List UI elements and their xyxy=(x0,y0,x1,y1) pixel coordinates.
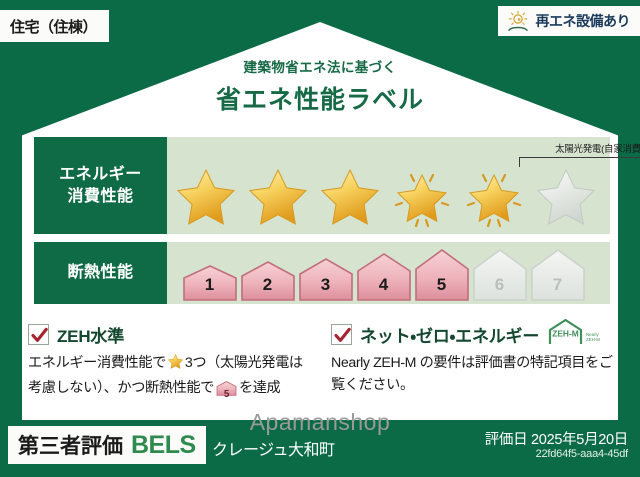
evaluation-date-label: 評価日 xyxy=(485,432,528,448)
renewable-equipment-tag: 再エネ設備あり xyxy=(498,6,640,36)
insulation-grade-5-number: 5 xyxy=(414,275,470,295)
zeh-standard-description: エネルギー消費性能で3つ（太陽光発電は考慮しない）、かつ断熱性能で5を達成 xyxy=(28,353,313,403)
renewable-equipment-label: 再エネ設備あり xyxy=(536,11,631,31)
svg-text:ZEH-M: ZEH-M xyxy=(586,337,600,342)
inline-star-icon xyxy=(167,358,184,374)
energy-performance-row: エネルギー 消費性能 太陽光発電(自家消費)分 xyxy=(34,137,610,234)
energy-star-rating xyxy=(167,164,610,230)
insulation-grade-4-number: 4 xyxy=(356,275,412,295)
insulation-grade-7-number: 7 xyxy=(530,275,586,295)
insulation-grade-7: 7 xyxy=(530,246,586,302)
label-footer: 第三者評価 BELS クレージュ大和町 評価日 2025年5月20日 22fd6… xyxy=(0,420,640,477)
bels-en-label: BELS xyxy=(131,431,196,460)
insulation-grade-1-number: 1 xyxy=(182,275,238,295)
net-zero-description: Nearly ZEH-M の要件は評価書の特記項目をご覧ください。 xyxy=(331,353,616,396)
zeh-standard-checkbox[interactable] xyxy=(28,324,49,345)
insulation-performance-row: 断熱性能 xyxy=(34,242,610,304)
insulation-performance-label-box: 断熱性能 xyxy=(34,242,167,304)
energy-label-line2: 消費性能 xyxy=(67,186,133,207)
energy-performance-label: 住宅（住棟） 再エネ設備あり 建築物省エネ法に基づく xyxy=(0,0,640,477)
insulation-grade-6-number: 6 xyxy=(472,275,528,295)
star-1-filled xyxy=(173,164,239,230)
star-6-empty xyxy=(533,164,599,230)
star-4-filled-solar xyxy=(389,164,455,230)
insulation-grade-list: 1 2 3 4 xyxy=(167,246,610,302)
zeh-standard-section: ZEH水準 エネルギー消費性能で3つ（太陽光発電は考慮しない）、かつ断熱性能で5… xyxy=(28,322,313,403)
insulation-grade-4: 4 xyxy=(356,250,412,302)
insulation-grade-6: 6 xyxy=(472,246,528,302)
zeh-standard-title: ZEH水準 xyxy=(57,322,124,347)
zeh-standard-text-part3: を達成 xyxy=(239,380,280,396)
star-3-filled xyxy=(317,164,383,230)
insulation-grade-3-number: 3 xyxy=(298,275,354,295)
solar-annotation-text: 太陽光発電(自家消費)分 xyxy=(519,141,640,155)
insulation-grade-5-achieved: 5 xyxy=(414,246,470,302)
sun-solar-icon xyxy=(506,10,530,32)
net-zero-header: ネット・ゼロ・エネルギー ZEH-M Nearly ZEH-M xyxy=(331,322,616,346)
insulation-grade-panel: 1 2 3 4 xyxy=(167,242,610,304)
energy-performance-label-box: エネルギー 消費性能 xyxy=(34,137,167,234)
inline-grade-number: 5 xyxy=(216,387,237,402)
net-zero-title: ネット・ゼロ・エネルギー xyxy=(360,322,539,347)
zeh-standard-header: ZEH水準 xyxy=(28,322,313,346)
star-5-filled-solar xyxy=(461,164,527,230)
star-2-filled xyxy=(245,164,311,230)
evaluation-date: 評価日 2025年5月20日 xyxy=(485,428,628,449)
zeh-standard-text-part1: エネルギー消費性能で xyxy=(28,355,166,371)
bels-jp-label: 第三者評価 xyxy=(18,430,123,460)
insulation-grade-3: 3 xyxy=(298,255,354,302)
label-subtitle: 建築物省エネ法に基づく xyxy=(0,56,640,76)
building-type-tag-label: 住宅（住棟） xyxy=(10,16,97,37)
insulation-grade-2-number: 2 xyxy=(240,275,296,295)
energy-star-panel: 太陽光発電(自家消費)分 xyxy=(167,137,610,234)
building-type-tag: 住宅（住棟） xyxy=(0,10,109,42)
inline-grade-badge: 5 xyxy=(216,380,237,404)
zeh-m-logo-icon: ZEH-M Nearly ZEH-M xyxy=(547,317,607,352)
label-main-title: 省エネ性能ラベル xyxy=(0,80,640,116)
insulation-label: 断熱性能 xyxy=(67,262,133,283)
bels-badge: 第三者評価 BELS xyxy=(8,426,206,464)
label-title-block: 建築物省エネ法に基づく 省エネ性能ラベル xyxy=(0,56,640,116)
evaluation-date-value: 2025年5月20日 xyxy=(531,432,628,448)
evaluation-id: 22fd64f5-aaa4-45df xyxy=(536,448,628,460)
net-zero-checkbox[interactable] xyxy=(331,324,352,345)
insulation-grade-2: 2 xyxy=(240,258,296,302)
energy-label-line1: エネルギー xyxy=(59,164,142,185)
net-zero-energy-section: ネット・ゼロ・エネルギー ZEH-M Nearly ZEH-M Nearly Z… xyxy=(331,322,616,396)
svg-text:ZEH-M: ZEH-M xyxy=(552,328,579,338)
building-name: クレージュ大和町 xyxy=(212,436,335,460)
insulation-grade-1: 1 xyxy=(182,262,238,302)
